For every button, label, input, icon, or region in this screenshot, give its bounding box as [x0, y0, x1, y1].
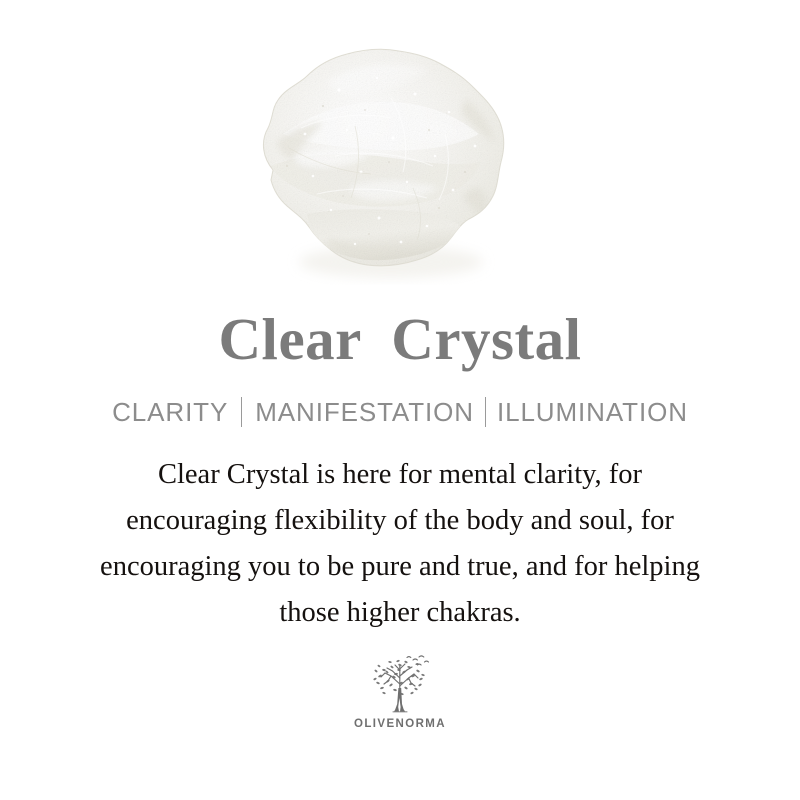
product-info-card: Clear Crystal CLARITY MANIFESTATION ILLU… [0, 0, 800, 800]
keyword-illumination: ILLUMINATION [497, 397, 688, 428]
product-description: Clear Crystal is here for mental clarity… [50, 452, 750, 636]
description-line: Clear Crystal is here for mental clarity… [50, 452, 750, 498]
description-line: encouraging you to be pure and true, and… [50, 544, 750, 590]
clear-crystal-image [243, 38, 523, 293]
keyword-clarity: CLARITY [112, 397, 228, 428]
keyword-separator [485, 397, 486, 427]
brand-logo: OLIVENORMA [354, 654, 446, 730]
hero-image-area [0, 0, 800, 310]
description-line: those higher chakras. [50, 590, 750, 636]
keyword-manifestation: MANIFESTATION [255, 397, 474, 428]
page-title: Clear Crystal [218, 310, 581, 369]
description-line: encouraging flexibility of the body and … [50, 498, 750, 544]
keyword-separator [241, 397, 242, 427]
crystal-illustration [243, 38, 523, 293]
keyword-list: CLARITY MANIFESTATION ILLUMINATION [112, 397, 688, 428]
olive-tree-icon [361, 654, 439, 716]
brand-name: OLIVENORMA [354, 718, 446, 730]
